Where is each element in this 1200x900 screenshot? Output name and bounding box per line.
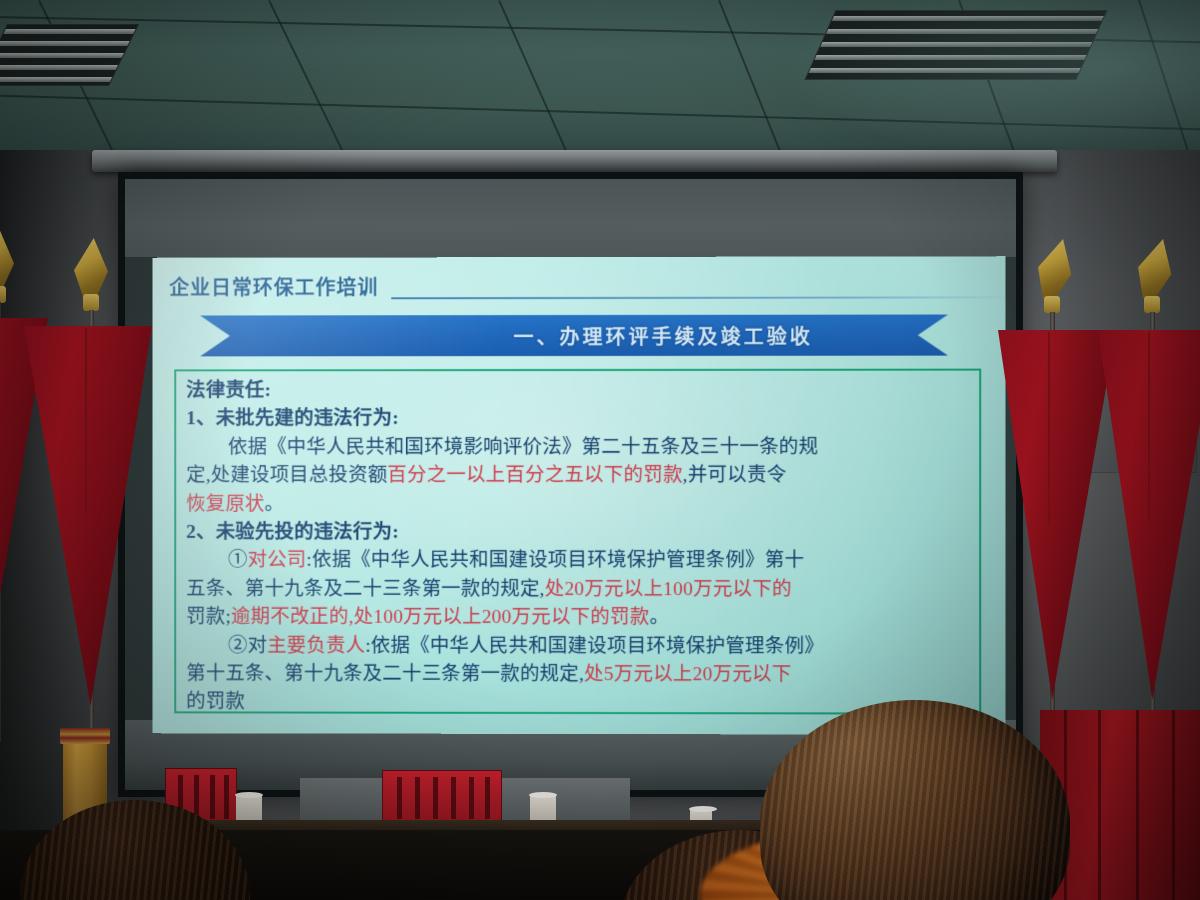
highlighted-text: 对公司 [248, 550, 307, 571]
slide-line-l1a: 依据《中华人民共和国环境影响评价法》第二十五条及三十一条的规 [186, 434, 971, 463]
highlighted-text: 恢复原状 [186, 494, 264, 515]
body-text: ②对 [228, 635, 267, 656]
foreground-audience [0, 710, 1200, 900]
flag-collar [0, 286, 6, 303]
highlighted-text: 逾期不改正的,处100万元以上200万元以下的罚款 [231, 607, 650, 628]
body-text: ① [228, 550, 248, 571]
body-text: :依据《中华人民共和国建设项目环境保护管理条例》 [365, 635, 824, 657]
presentation-slide: 企业日常环保工作培训 一、办理环评手续及竣工验收 法律责任:1、未批先建的违法行… [152, 256, 1005, 735]
section-banner: 一、办理环评手续及竣工验收 [200, 314, 948, 356]
slide-line-item1: 1、未批先建的违法行为: [186, 405, 971, 434]
slide-line-l2c: 罚款;逾期不改正的,处100万元以上200万元以下的罚款。 [186, 604, 971, 633]
slide-line-l1b: 定,处建设项目总投资额百分之一以上百分之五以下的罚款,并可以责令 [186, 462, 971, 491]
body-text: 依据《中华人民共和国环境影响评价法》第二十五条及三十一条的规 [228, 437, 819, 458]
screen-blank-top [125, 179, 1016, 257]
body-text: 定,处建设项目总投资额 [186, 465, 387, 486]
lecture-room-scene: 企业日常环保工作培训 一、办理环评手续及竣工验收 法律责任:1、未批先建的违法行… [0, 0, 1200, 900]
flag-collar [83, 294, 99, 311]
slide-line-heading: 法律责任: [186, 377, 971, 406]
body-text: 。 [265, 494, 285, 515]
body-text: 罚款; [186, 607, 231, 628]
tassel-cord [1048, 332, 1050, 522]
tassel-cord [1148, 332, 1150, 522]
slide-line-l3a: ②对主要负责人:依据《中华人民共和国建设项目环境保护管理条例》 [186, 632, 971, 661]
body-text: 。 [649, 607, 669, 628]
slide-line-item2: 2、未验先投的违法行为: [186, 519, 971, 548]
body-text: 1、未批先建的违法行为: [186, 409, 399, 430]
body-text: 2、未验先投的违法行为: [186, 522, 399, 543]
highlighted-text: 主要负责人 [267, 635, 365, 656]
projector-screen-roller [92, 150, 1057, 172]
ceiling-light-glow [780, 0, 1200, 168]
section-banner-label: 一、办理环评手续及竣工验收 [334, 321, 813, 351]
highlighted-text: 处5万元以上20万元以下 [584, 664, 791, 685]
body-text: ,并可以责令 [683, 465, 787, 486]
slide-line-l2a: ①对公司:依据《中华人民共和国建设项目环境保护管理条例》第十 [186, 547, 971, 576]
body-text: 五条、第十九条及二十三条第一款的规定, [186, 579, 545, 600]
slide-line-l2b: 五条、第十九条及二十三条第一款的规定,处20万元以上100万元以下的 [186, 576, 971, 605]
audience-head-foreground [760, 700, 1070, 900]
body-text: :依据《中华人民共和国建设项目环境保护管理条例》第十 [306, 550, 804, 571]
slide-title: 企业日常环保工作培训 [169, 271, 378, 300]
flag-collar [1144, 296, 1160, 313]
highlighted-text: 处20万元以上100万元以下的 [545, 579, 792, 600]
body-text: 第十五条、第十九条及二十三条第一款的规定, [186, 664, 584, 686]
highlighted-text: 百分之一以上百分之五以下的罚款 [387, 465, 682, 486]
slide-line-l1c: 恢复原状。 [186, 491, 971, 519]
ceiling [0, 0, 1200, 168]
body-text: 法律责任: [186, 380, 271, 401]
slide-title-underline [391, 296, 1005, 299]
legal-liability-content-box: 法律责任:1、未批先建的违法行为:依据《中华人民共和国环境影响评价法》第二十五条… [174, 369, 981, 715]
slide-line-l3b: 第十五条、第十九条及二十三条第一款的规定,处5万元以上20万元以下 [186, 661, 971, 690]
tassel-cord [85, 328, 87, 518]
flag-collar [1044, 296, 1060, 313]
